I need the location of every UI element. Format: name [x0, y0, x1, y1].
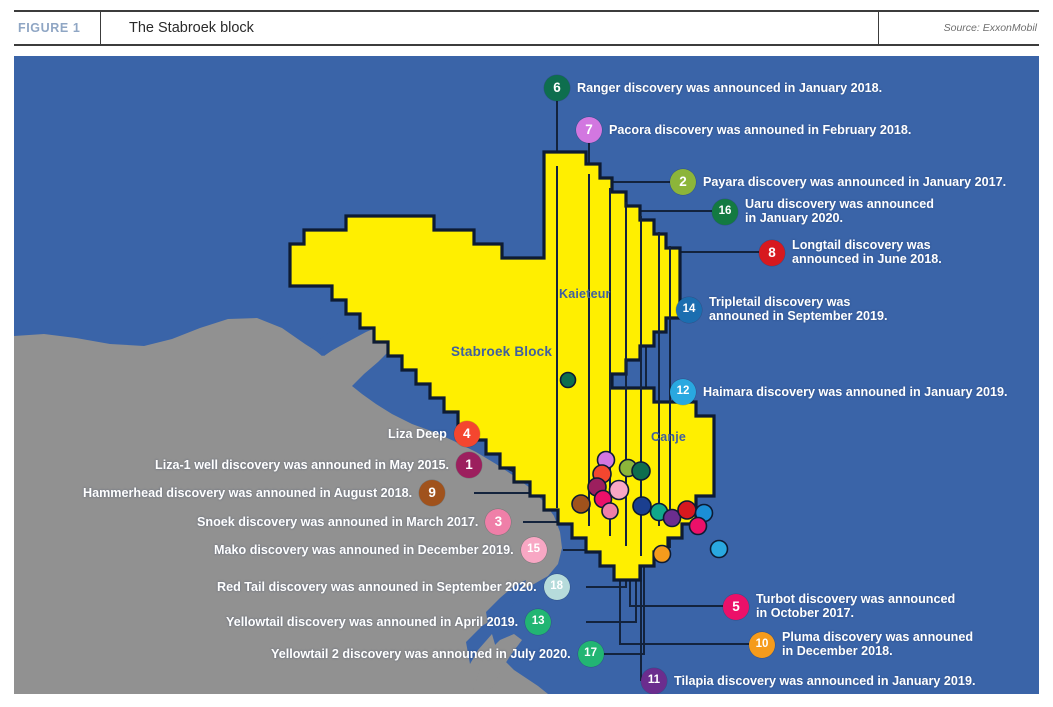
callout-uaru[interactable]: 16 Uaru discovery was announced in Janua… [712, 198, 934, 226]
badge-15[interactable]: 15 [521, 537, 547, 563]
badge-7[interactable]: 7 [576, 117, 602, 143]
badge-3[interactable]: 3 [485, 509, 511, 535]
badge-17[interactable]: 17 [578, 641, 604, 667]
callout-turbot[interactable]: 5 Turbot discovery was announced in Octo… [723, 593, 955, 621]
callout-yellowtail2-text: Yellowtail 2 discovery was announed in J… [271, 647, 571, 661]
callout-yellowtail-text: Yellowtail discovery was announed in Apr… [226, 615, 518, 629]
dot-redtail [678, 501, 696, 519]
callout-haimara[interactable]: 12 Haimara discovery was announed in Jan… [670, 379, 1007, 405]
badge-6[interactable]: 6 [544, 75, 570, 101]
callout-redtail-text: Red Tail discovery was announed in Septe… [217, 580, 537, 594]
dot-mako [610, 481, 629, 500]
badge-12[interactable]: 12 [670, 379, 696, 405]
callout-tripletail-line1: Tripletail discovery was [709, 296, 887, 310]
dot-yellowtail2 [602, 503, 618, 519]
badge-9[interactable]: 9 [419, 480, 445, 506]
callout-tripletail-text: Tripletail discovery was announed in Sep… [709, 296, 887, 324]
badge-2[interactable]: 2 [670, 169, 696, 195]
dot-pluma [654, 546, 671, 563]
figure-header: FIGURE 1 The Stabroek block Source: Exxo… [14, 10, 1039, 46]
callout-pluma[interactable]: 10 Pluma discovery was announed in Decem… [749, 631, 973, 659]
badge-5[interactable]: 5 [723, 594, 749, 620]
callout-payara[interactable]: 2 Payara discovery was announced in Janu… [670, 169, 1006, 195]
badge-14[interactable]: 14 [676, 297, 702, 323]
callout-tilapia-text: Tilapia discovery was announced in Janua… [674, 674, 975, 688]
dot-hammerhead [572, 495, 590, 513]
callout-pacora-text: Pacora discovery was announed in Februar… [609, 123, 911, 137]
callout-turbot-line2: in October 2017. [756, 607, 955, 621]
callout-pacora[interactable]: 7 Pacora discovery was announed in Febru… [576, 117, 911, 143]
callout-snoek[interactable]: Snoek discovery was announed in March 20… [197, 509, 511, 535]
dot-ranger [561, 373, 576, 388]
region-label-stabroek: Stabroek Block [451, 344, 552, 359]
callout-longtail-line2: announced in June 2018. [792, 253, 942, 267]
callout-yellowtail2[interactable]: Yellowtail 2 discovery was announed in J… [271, 641, 604, 667]
callout-uaru-line1: Uaru discovery was announced [745, 198, 934, 212]
callout-snoek-text: Snoek discovery was announed in March 20… [197, 515, 478, 529]
dot-snoek [690, 518, 707, 535]
callout-payara-text: Payara discovery was announced in Januar… [703, 175, 1006, 189]
badge-8[interactable]: 8 [759, 240, 785, 266]
callout-uaru-text: Uaru discovery was announced in January … [745, 198, 934, 226]
callout-hammerhead-text: Hammerhead discovery was announed in Aug… [83, 486, 412, 500]
callout-tilapia[interactable]: 11 Tilapia discovery was announced in Ja… [641, 668, 975, 694]
map-canvas: Kaieteur Stabroek Block Canje 6 Ranger d… [14, 56, 1039, 694]
callout-ranger-text: Ranger discovery was announced in Januar… [577, 81, 882, 95]
callout-liza1-text: Liza-1 well discovery was announed in Ma… [155, 458, 449, 472]
badge-1[interactable]: 1 [456, 452, 482, 478]
callout-lizadeep[interactable]: Liza Deep 4 [388, 421, 480, 447]
callout-mako[interactable]: Mako discovery was announed in December … [214, 537, 547, 563]
callout-haimara-text: Haimara discovery was announed in Januar… [703, 385, 1007, 399]
page-title: The Stabroek block [101, 12, 878, 44]
badge-13[interactable]: 13 [525, 609, 551, 635]
region-label-canje: Canje [651, 430, 686, 444]
callout-uaru-line2: in January 2020. [745, 212, 934, 226]
callout-redtail[interactable]: Red Tail discovery was announed in Septe… [217, 574, 570, 600]
callout-pluma-line1: Pluma discovery was announed [782, 631, 973, 645]
callout-ranger[interactable]: 6 Ranger discovery was announced in Janu… [544, 75, 882, 101]
dot-yellowtail [711, 541, 728, 558]
dot-uaru [632, 462, 650, 480]
callout-lizadeep-text: Liza Deep [388, 427, 447, 441]
callout-longtail-text: Longtail discovery was announced in June… [792, 239, 942, 267]
callout-pluma-text: Pluma discovery was announed in December… [782, 631, 973, 659]
badge-16[interactable]: 16 [712, 199, 738, 225]
callout-hammerhead[interactable]: Hammerhead discovery was announed in Aug… [83, 480, 445, 506]
callout-longtail[interactable]: 8 Longtail discovery was announced in Ju… [759, 239, 942, 267]
badge-18[interactable]: 18 [544, 574, 570, 600]
callout-tripletail[interactable]: 14 Tripletail discovery was announed in … [676, 296, 887, 324]
callout-tripletail-line2: announed in September 2019. [709, 310, 887, 324]
source-credit: Source: ExxonMobil [879, 12, 1039, 44]
callout-mako-text: Mako discovery was announed in December … [214, 543, 514, 557]
callout-turbot-text: Turbot discovery was announced in Octobe… [756, 593, 955, 621]
region-label-kaieteur: Kaieteur [559, 287, 611, 301]
badge-4[interactable]: 4 [454, 421, 480, 447]
figure-number: FIGURE 1 [14, 12, 100, 44]
callout-liza1[interactable]: Liza-1 well discovery was announed in Ma… [155, 452, 482, 478]
dot-longtail [633, 497, 651, 515]
badge-10[interactable]: 10 [749, 632, 775, 658]
figure-root: FIGURE 1 The Stabroek block Source: Exxo… [0, 0, 1053, 707]
callout-yellowtail[interactable]: Yellowtail discovery was announed in Apr… [226, 609, 551, 635]
callout-pluma-line2: in December 2018. [782, 645, 973, 659]
callout-longtail-line1: Longtail discovery was [792, 239, 942, 253]
callout-turbot-line1: Turbot discovery was announced [756, 593, 955, 607]
badge-11[interactable]: 11 [641, 668, 667, 694]
